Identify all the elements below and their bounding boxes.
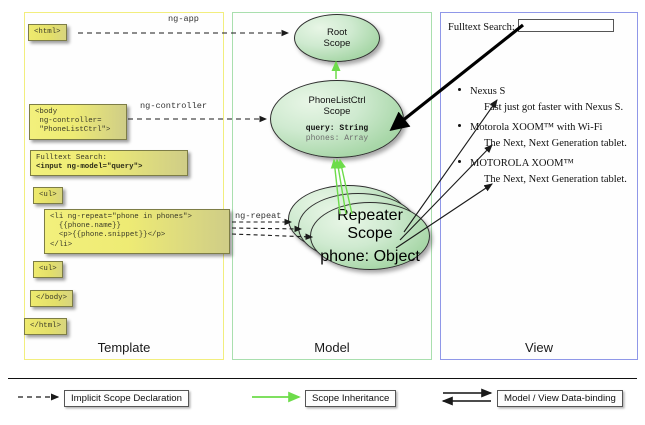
phone-list: Nexus S Fast just got faster with Nexus …	[452, 84, 634, 192]
panel-model-label: Model	[233, 340, 431, 355]
code-box-html-close: </html>	[24, 318, 67, 335]
scope-ctrl-prop-query: query: String	[306, 124, 368, 134]
code-box-search-input: Fulltext Search: <input ng-model="query"…	[30, 150, 188, 176]
edge-label-ng-controller: ng-controller	[140, 101, 207, 111]
scope-repeater: Repeater Scope phone: Object	[310, 202, 430, 270]
panel-template-label: Template	[25, 340, 223, 355]
legend-scope-inheritance: Scope Inheritance	[305, 390, 396, 407]
code-line-body-2: ng-controller=	[35, 117, 102, 125]
code-box-ul-close: <ul>	[33, 261, 63, 278]
code-box-body-open: <body ng-controller= "PhoneListCtrl">	[29, 104, 127, 140]
bullet-icon	[458, 160, 461, 163]
code-line-li-2: {{phone.name}}	[50, 222, 121, 230]
legend-divider	[8, 378, 637, 379]
code-line-body-1: <body	[35, 108, 57, 116]
code-line-search-2: <input ng-model="query">	[36, 163, 142, 171]
list-item: MOTOROLA XOOM™ The Next, Next Generation…	[452, 156, 634, 188]
code-box-li-repeat: <li ng-repeat="phone in phones"> {{phone…	[44, 209, 230, 254]
panel-template: Template	[24, 12, 224, 360]
scope-root-title-1: Root	[327, 27, 347, 38]
edge-label-ng-repeat: ng-repeat	[235, 211, 281, 221]
scope-ctrl-title-1: PhoneListCtrl	[308, 95, 365, 106]
scope-ctrl-title-2: Scope	[324, 106, 351, 117]
phone-name: Nexus S	[470, 84, 634, 100]
code-line-search-1: Fulltext Search:	[36, 154, 107, 162]
code-box-body-close: </body>	[30, 290, 73, 307]
code-box-ul-open: <ul>	[33, 187, 63, 204]
code-line-li-1: <li ng-repeat="phone in phones">	[50, 213, 192, 221]
code-line-li-4: </li>	[50, 241, 72, 249]
panel-view-label: View	[441, 340, 637, 355]
view-search-label: Fulltext Search:	[448, 22, 515, 33]
bullet-icon	[458, 124, 461, 127]
list-item: Motorola XOOM™ with Wi-Fi The Next, Next…	[452, 120, 634, 152]
code-line-li-3: <p>{{phone.snippet}}</p>	[50, 231, 165, 239]
scope-repeater-title-1: Repeater	[337, 207, 403, 225]
scope-phonelistctrl: PhoneListCtrl Scope query: String phones…	[270, 80, 404, 158]
phone-name: Motorola XOOM™ with Wi-Fi	[470, 120, 634, 136]
phone-snippet: The Next, Next Generation tablet.	[470, 136, 634, 152]
legend-model-view-data-binding: Model / View Data-binding	[497, 390, 623, 407]
diagram-canvas: Template Model View	[0, 0, 645, 425]
bullet-icon	[458, 88, 461, 91]
edge-label-ng-app: ng-app	[168, 14, 199, 24]
legend-implicit-scope-declaration: Implicit Scope Declaration	[64, 390, 189, 407]
code-box-html-open: <html>	[28, 24, 67, 41]
phone-snippet: The Next, Next Generation tablet.	[470, 172, 634, 188]
fulltext-search-input[interactable]	[518, 19, 614, 32]
scope-root-title-2: Scope	[324, 38, 351, 49]
phone-snippet: Fast just got faster with Nexus S.	[470, 100, 634, 116]
phone-name: MOTOROLA XOOM™	[470, 156, 634, 172]
legend-arrow-databinding	[443, 393, 491, 401]
scope-root: Root Scope	[294, 14, 380, 62]
scope-repeater-title-2: Scope	[347, 225, 392, 243]
scope-repeater-prop-phone: phone: Object	[320, 248, 420, 266]
scope-ctrl-prop-phones: phones: Array	[306, 134, 368, 144]
list-item: Nexus S Fast just got faster with Nexus …	[452, 84, 634, 116]
code-line-body-3: "PhoneListCtrl">	[35, 126, 110, 134]
